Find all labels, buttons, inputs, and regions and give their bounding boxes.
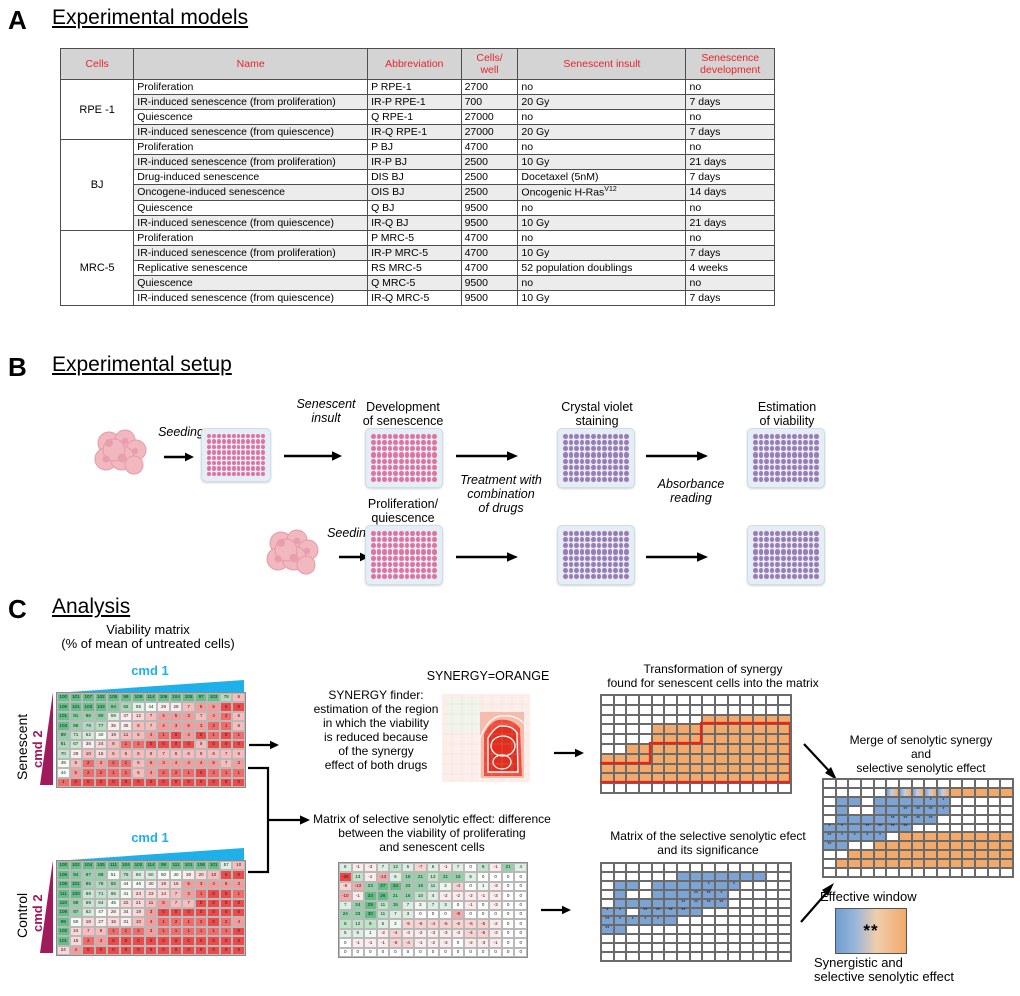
synergy-cell (652, 783, 665, 793)
well (764, 574, 769, 579)
well (377, 562, 382, 567)
heatmap-cell: 4 (195, 759, 208, 768)
well (602, 562, 607, 567)
significance-cell (715, 952, 728, 961)
table-row: IR-induced senescence (from quiescence)I… (61, 290, 775, 305)
well (792, 537, 797, 542)
heatmap-cell: -6 (389, 938, 402, 947)
heatmap-cell: 1 (195, 889, 208, 898)
heatmap-cell: 1 (157, 927, 170, 936)
well (569, 477, 574, 482)
well (624, 549, 629, 554)
row-abbreviation: IR-P BJ (368, 155, 462, 170)
well (410, 543, 415, 548)
heatmap-cell: 2 (170, 768, 183, 777)
well (803, 452, 808, 457)
row-senescence-development: no (686, 140, 775, 155)
significance-cell (728, 952, 741, 961)
well (388, 477, 393, 482)
significance-cell: * (715, 890, 728, 899)
heatmap-cell: 0 (182, 778, 195, 787)
well (399, 434, 404, 439)
significance-cell (702, 925, 715, 934)
well (246, 456, 250, 460)
heatmap-cell: 23 (352, 910, 365, 919)
significance-cell (639, 925, 652, 934)
merge-cell (836, 841, 849, 850)
well (574, 471, 579, 476)
heatmap-cell: 47 (95, 908, 108, 917)
heatmap-cell: 2 (82, 759, 95, 768)
heatmap-cell: 5 (377, 919, 390, 928)
merge-cell (848, 824, 861, 833)
significance-cell (601, 943, 614, 952)
well (597, 471, 602, 476)
significance-cell (728, 934, 741, 943)
well (246, 466, 250, 470)
well (798, 446, 803, 451)
heatmap-cell: 0 (145, 936, 158, 945)
heatmap-cell: 19 (157, 880, 170, 889)
well (781, 574, 786, 579)
heatmap-cell: 16 (402, 891, 415, 900)
heatmap-cell: 67 (70, 740, 83, 749)
well (775, 440, 780, 445)
heatmap-cell: 109 (57, 908, 70, 917)
merge-cell (912, 841, 925, 850)
heatmap-cell: 1 (170, 927, 183, 936)
synergy-cell (753, 695, 766, 705)
significance-cell (766, 908, 779, 917)
heatmap-cell: -13 (377, 872, 390, 881)
heatmap-cell: 0 (477, 910, 490, 919)
significance-cell (639, 881, 652, 890)
row-abbreviation: IR-Q RPE-1 (368, 125, 462, 140)
well (569, 459, 574, 464)
well (753, 446, 758, 451)
heatmap-cell: 2 (220, 712, 233, 721)
arrow-to-synergy-finder (248, 737, 280, 758)
cmd2-label-senescent: cmd 2 (30, 730, 45, 768)
synergy-cell (715, 754, 728, 764)
well (382, 477, 387, 482)
well (591, 568, 596, 573)
significance-cell (601, 934, 614, 943)
well (222, 456, 226, 460)
heatmap-cell: 101 (57, 712, 70, 721)
synergy-cell (614, 783, 627, 793)
merge-cell (937, 859, 950, 868)
heatmap-cell: 49 (57, 759, 70, 768)
well (405, 440, 410, 445)
synergy-cell (601, 783, 614, 793)
well (574, 562, 579, 567)
heatmap-cell: -3 (489, 882, 502, 891)
heatmap-cell: 4 (170, 759, 183, 768)
significance-cell: * (614, 908, 627, 917)
well (261, 434, 265, 438)
heatmap-cell: 88 (70, 721, 83, 730)
well (410, 459, 415, 464)
heatmap-cell: 2 (157, 768, 170, 777)
well (427, 477, 432, 482)
well (759, 574, 764, 579)
merge-cell (1000, 868, 1013, 877)
significance-cell (753, 925, 766, 934)
well (792, 574, 797, 579)
heatmap-cell: 35 (107, 721, 120, 730)
row-senescent-insult: no (518, 230, 686, 245)
well (393, 471, 398, 476)
well (770, 549, 775, 554)
synergy-cell (778, 695, 791, 705)
row-abbreviation: Q BJ (368, 200, 462, 215)
well (388, 556, 393, 561)
well (619, 434, 624, 439)
heatmap-cell: 1 (207, 927, 220, 936)
synergy-cell (652, 724, 665, 734)
significance-cell (778, 881, 791, 890)
merge-cell (950, 806, 963, 815)
heatmap-cell: 0 (352, 948, 365, 957)
well (427, 574, 432, 579)
well (563, 452, 568, 457)
well (416, 543, 421, 548)
heatmap-cell: 0 (514, 938, 527, 947)
heatmap-cell: 0 (132, 778, 145, 787)
heatmap-cell: 78 (95, 880, 108, 889)
heatmap-cell: 1 (477, 882, 490, 891)
well (382, 446, 387, 451)
well (382, 574, 387, 579)
merge-cell (975, 868, 988, 877)
heatmap-cell: 3 (95, 759, 108, 768)
well (410, 434, 415, 439)
synergy-cell (702, 734, 715, 744)
heatmap-cell: 12 (427, 872, 440, 881)
heatmap-cell: 0 (502, 882, 515, 891)
well (222, 466, 226, 470)
row-senescence-development: no (686, 110, 775, 125)
well (753, 556, 758, 561)
well (377, 568, 382, 573)
significance-cell (690, 934, 703, 943)
heatmap-cell: 1 (182, 927, 195, 936)
header-cells-per-well: Cells/ well (461, 49, 518, 80)
well (613, 459, 618, 464)
heatmap-cell: 111 (107, 861, 120, 870)
well (569, 471, 574, 476)
row-name: Quiescence (134, 275, 368, 290)
viability-matrix-title: Viability matrix (% of mean of untreated… (18, 623, 278, 651)
well (421, 434, 426, 439)
well (241, 466, 245, 470)
table-row: Drug-induced senescenceDIS BJ2500Docetax… (61, 170, 775, 185)
heatmap-cell: -1 (377, 938, 390, 947)
well (781, 537, 786, 542)
well (619, 440, 624, 445)
heatmap-cell: 103 (95, 702, 108, 711)
label-treatment-with-drugs: Treatment with combination of drugs (446, 473, 556, 515)
well (814, 477, 819, 482)
well (427, 440, 432, 445)
heatmap-cell: 28 (107, 908, 120, 917)
well (770, 556, 775, 561)
well (814, 543, 819, 548)
well (256, 450, 260, 454)
heatmap-cell: -6 (414, 919, 427, 928)
heatmap-cell: 0 (464, 863, 477, 872)
heatmap-cell: 0 (514, 948, 527, 957)
well (775, 434, 780, 439)
heatmap-cell: 0 (232, 936, 245, 945)
heatmap-cell: 0 (207, 899, 220, 908)
well (563, 459, 568, 464)
arrow-to-significance (540, 902, 572, 923)
heatmap-cell: 5 (70, 768, 83, 777)
well (781, 556, 786, 561)
heatmap-cell: 1 (232, 731, 245, 740)
synergy-cell (702, 764, 715, 774)
significance-cell (614, 890, 627, 899)
well (399, 477, 404, 482)
row-cells-per-well: 4700 (461, 245, 518, 260)
heatmap-cell: 6 (339, 863, 352, 872)
cmd1-label-senescent: cmd 1 (100, 663, 200, 678)
cmd1-label-control: cmd 1 (100, 830, 200, 845)
heatmap-cell: 0 (170, 946, 183, 955)
arrow-up-to-merge (795, 880, 837, 931)
synergy-cell (639, 783, 652, 793)
well (624, 471, 629, 476)
merge-cell (848, 797, 861, 806)
significance-cell (740, 908, 753, 917)
well (421, 531, 426, 536)
heatmap-cell: 23 (402, 882, 415, 891)
well (585, 459, 590, 464)
well (759, 440, 764, 445)
merge-cell (836, 779, 849, 788)
significance-cell (652, 952, 665, 961)
row-senescent-insult: 10 Gy (518, 290, 686, 305)
significance-cell (652, 881, 665, 890)
well (427, 446, 432, 451)
well (432, 452, 437, 457)
heatmap-cell: 0 (232, 870, 245, 879)
well (753, 531, 758, 536)
synergy-cell (753, 764, 766, 774)
heatmap-cell: 1 (207, 731, 220, 740)
well (809, 477, 814, 482)
well (608, 471, 613, 476)
well (410, 556, 415, 561)
merge-cell (912, 850, 925, 859)
merge-cell (988, 815, 1001, 824)
heatmap-cell: 1 (220, 927, 233, 936)
heatmap-cell: 4 (70, 946, 83, 955)
merge-cell (924, 841, 937, 850)
row-name: IR-induced senescence (from quiescence) (134, 215, 368, 230)
synergy-cell (677, 724, 690, 734)
heatmap-cell: 24 (339, 910, 352, 919)
well (405, 568, 410, 573)
heatmap-cell: 100 (57, 861, 70, 870)
merge-cell (836, 797, 849, 806)
row-cells-per-well: 2500 (461, 155, 518, 170)
significance-cell (753, 899, 766, 908)
well (410, 440, 415, 445)
well (602, 549, 607, 554)
well (753, 543, 758, 548)
merge-title: Merge of senolytic synergy and selective… (815, 733, 1020, 775)
well (619, 562, 624, 567)
synergy-cell (677, 754, 690, 764)
significance-cell (766, 872, 779, 881)
well (792, 477, 797, 482)
well (775, 549, 780, 554)
row-cells-per-well: 2500 (461, 170, 518, 185)
well (212, 445, 216, 449)
well (393, 549, 398, 554)
synergy-cell (626, 695, 639, 705)
heatmap-cell: 0 (195, 899, 208, 908)
synergy-cell (639, 754, 652, 764)
significance-cell (677, 943, 690, 952)
synergy-cell (626, 715, 639, 725)
heatmap-cell: 5 (170, 712, 183, 721)
well (563, 465, 568, 470)
significance-cell (715, 881, 728, 890)
merge-cell (848, 815, 861, 824)
heatmap-cell: 0 (195, 946, 208, 955)
well (410, 568, 415, 573)
row-cells-per-well: 9500 (461, 200, 518, 215)
heatmap-cell: 7 (145, 712, 158, 721)
well (569, 556, 574, 561)
well (803, 477, 808, 482)
well (405, 477, 410, 482)
synergy-cell (740, 773, 753, 783)
plate-wells (207, 434, 265, 476)
well (613, 452, 618, 457)
well (222, 434, 226, 438)
heatmap-cell: 69 (82, 899, 95, 908)
row-name: Quiescence (134, 110, 368, 125)
well (619, 568, 624, 573)
merge-cell (962, 868, 975, 877)
well (237, 472, 241, 476)
synergy-cell (601, 773, 614, 783)
heatmap-cell: 4 (207, 712, 220, 721)
well (246, 461, 250, 465)
well (574, 459, 579, 464)
well (256, 445, 260, 449)
heatmap-cell: 7 (82, 927, 95, 936)
heatmap-cell: 2 (82, 936, 95, 945)
merge-cell (848, 868, 861, 877)
synergy-cell (766, 715, 779, 725)
well (393, 531, 398, 536)
well (602, 465, 607, 470)
heatmap-cell: 1 (57, 778, 70, 787)
well (377, 452, 382, 457)
synergy-cell (626, 783, 639, 793)
well (591, 452, 596, 457)
well (212, 456, 216, 460)
well (574, 549, 579, 554)
heatmap-cell: 7 (195, 712, 208, 721)
heatmap-cell: 0 (170, 740, 183, 749)
well (388, 543, 393, 548)
heatmap-cell: 0 (82, 778, 95, 787)
well (809, 459, 814, 464)
merge-cell (975, 832, 988, 841)
well (770, 562, 775, 567)
heatmap-cell: 24 (352, 901, 365, 910)
table-row: MRC-5ProliferationP MRC-54700nono (61, 230, 775, 245)
heatmap-cell: 4 (157, 712, 170, 721)
heatmap-cell: 0 (120, 778, 133, 787)
merge-cell (962, 788, 975, 797)
significance-cell: * (702, 881, 715, 890)
significance-cell (766, 899, 779, 908)
merge-cell (937, 841, 950, 850)
well (792, 434, 797, 439)
well (251, 461, 255, 465)
well (787, 537, 792, 542)
well (410, 446, 415, 451)
significance-cell (664, 925, 677, 934)
well (371, 434, 376, 439)
heatmap-cell: 16 (170, 880, 183, 889)
heatmap-cell: 0 (132, 936, 145, 945)
heatmap-cell: 7 (170, 889, 183, 898)
arrow-to-transformation (553, 745, 585, 766)
well (569, 452, 574, 457)
heatmap-cell: 6 (132, 731, 145, 740)
heatmap-cell: 0 (107, 778, 120, 787)
heatmap-cell: 5 (207, 759, 220, 768)
heatmap-cell: 3 (182, 712, 195, 721)
heatmap-cell: 12 (352, 919, 365, 928)
significance-cell (766, 952, 779, 961)
heatmap-cell: -2 (414, 929, 427, 938)
well (613, 568, 618, 573)
plate-estimation-top (747, 428, 825, 488)
merge-cell (1000, 779, 1013, 788)
well (624, 537, 629, 542)
heatmap-cell: 0 (477, 948, 490, 957)
heatmap-cell: 99 (120, 693, 133, 702)
heatmap-cell: 88 (82, 712, 95, 721)
well (770, 446, 775, 451)
heatmap-cell: 0 (107, 936, 120, 945)
well (770, 471, 775, 476)
synergy-cell (690, 783, 703, 793)
significance-cell (614, 934, 627, 943)
heatmap-cell: 26 (377, 891, 390, 900)
well (759, 549, 764, 554)
well (770, 465, 775, 470)
well (597, 465, 602, 470)
merge-cell (924, 832, 937, 841)
merge-cell (823, 797, 836, 806)
well (574, 465, 579, 470)
heatmap-cell: -4 (464, 929, 477, 938)
heatmap-cell: 0 (502, 872, 515, 881)
significance-cell (626, 890, 639, 899)
well (619, 549, 624, 554)
